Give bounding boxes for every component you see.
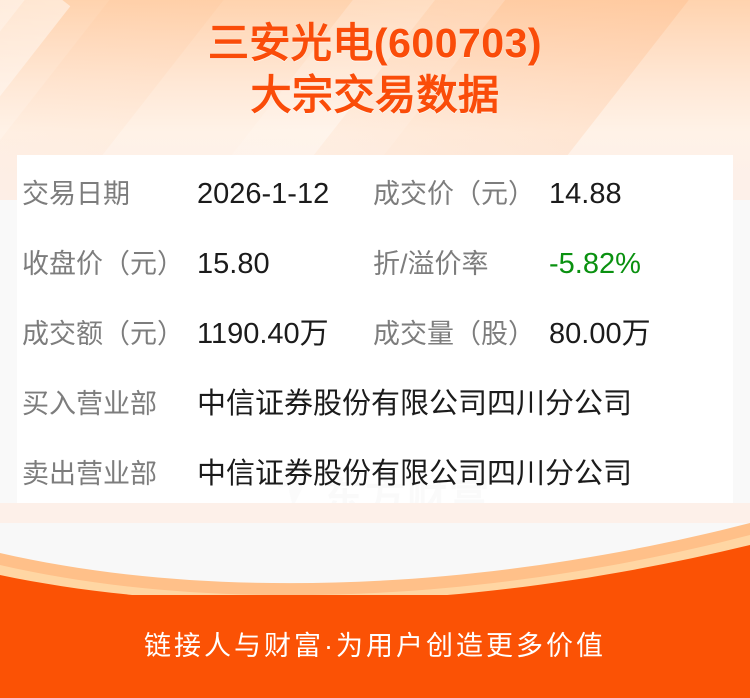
- row-label-trade-price: 成交价（元）: [373, 173, 535, 215]
- row-label-trade-date: 交易日期: [22, 173, 130, 215]
- row-value-trade-price: 14.88: [549, 173, 622, 215]
- page-title-subject: 大宗交易数据: [0, 69, 750, 121]
- table-row: 成交额（元） 1190.40万 成交量（股） 80.00万: [17, 313, 733, 355]
- row-value-turnover-amount: 1190.40万: [197, 313, 329, 355]
- row-label-turnover-volume: 成交量（股）: [373, 313, 535, 355]
- row-label-turnover-amount: 成交额（元）: [22, 313, 184, 355]
- row-label-seller-branch: 卖出营业部: [22, 453, 157, 495]
- wave-divider: [0, 503, 750, 608]
- table-row: 卖出营业部 中信证券股份有限公司四川分公司: [17, 453, 733, 495]
- row-value-turnover-volume: 80.00万: [549, 313, 651, 355]
- row-value-buyer-branch: 中信证券股份有限公司四川分公司: [197, 383, 632, 425]
- page-title-stock: 三安光电(600703): [0, 17, 750, 69]
- big-trade-data-poster: 三安光电(600703) 大宗交易数据 东方财富 交易日期 2026-1-12 …: [0, 0, 750, 698]
- poster-footer: 链接人与财富·为用户创造更多价值: [0, 595, 750, 698]
- data-card: 东方财富 交易日期 2026-1-12 成交价（元） 14.88 收盘价（元） …: [17, 155, 733, 503]
- wave-shape: [0, 503, 750, 608]
- page-title: 三安光电(600703) 大宗交易数据: [0, 17, 750, 121]
- row-label-close-price: 收盘价（元）: [22, 243, 184, 285]
- row-value-seller-branch: 中信证券股份有限公司四川分公司: [197, 453, 632, 495]
- table-row: 收盘价（元） 15.80 折/溢价率 -5.82%: [17, 243, 733, 285]
- footer-slogan: 链接人与财富·为用户创造更多价值: [0, 595, 750, 698]
- table-row: 交易日期 2026-1-12 成交价（元） 14.88: [17, 173, 733, 215]
- row-value-discount-premium-rate: -5.82%: [549, 243, 641, 285]
- table-row: 买入营业部 中信证券股份有限公司四川分公司: [17, 383, 733, 425]
- row-value-close-price: 15.80: [197, 243, 270, 285]
- row-label-buyer-branch: 买入营业部: [22, 383, 157, 425]
- row-value-trade-date: 2026-1-12: [197, 173, 329, 215]
- row-label-discount-premium-rate: 折/溢价率: [373, 243, 489, 285]
